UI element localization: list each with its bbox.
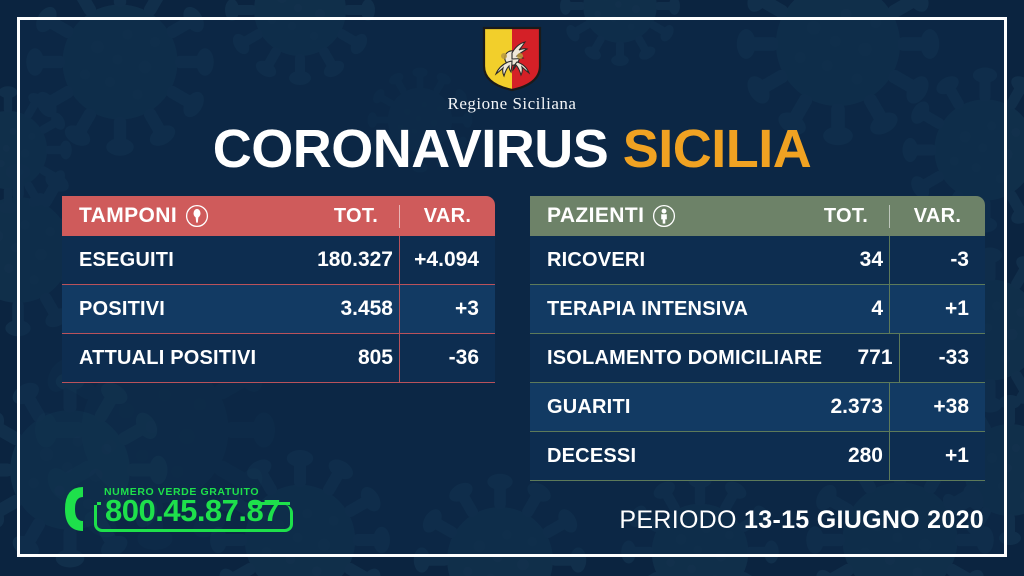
- row-variation: -3: [889, 236, 985, 285]
- swab-icon: [185, 204, 209, 228]
- row-variation: -33: [899, 334, 985, 383]
- table-row: ESEGUITI 180.327 +4.094: [62, 236, 495, 285]
- row-variation: +1: [889, 285, 985, 334]
- row-total: 180.327: [313, 248, 399, 272]
- row-variation: +4.094: [399, 236, 495, 285]
- table-pazienti-header: PAZIENTI TOT. VAR.: [530, 196, 985, 236]
- row-total: 3.458: [313, 297, 399, 321]
- row-label: DECESSI: [547, 445, 803, 468]
- table-tamponi: TAMPONI TOT. VAR. ESEGUITI 180.327 +4.09…: [62, 196, 495, 383]
- table-tamponi-col-var: VAR.: [399, 205, 495, 228]
- title-accent-word: SICILIA: [623, 119, 812, 179]
- hotline-block[interactable]: NUMERO VERDE GRATUITO 800.45.87.87: [58, 484, 293, 539]
- table-pazienti-col-var: VAR.: [889, 205, 985, 228]
- period-label: PERIODO: [619, 506, 736, 534]
- table-row: GUARITI 2.373 +38: [530, 383, 985, 432]
- row-label: POSITIVI: [79, 298, 313, 321]
- row-variation: +1: [889, 432, 985, 481]
- row-label: ESEGUITI: [79, 249, 313, 272]
- trinacria-crest-icon: [481, 26, 543, 97]
- phone-icon: [58, 484, 88, 539]
- row-total: 771: [822, 346, 898, 370]
- row-total: 4: [803, 297, 889, 321]
- period-value: 13-15 GIUGNO 2020: [744, 506, 984, 534]
- hotline-number[interactable]: 800.45.87.87: [105, 493, 280, 528]
- region-label: Regione Siciliana: [0, 94, 1024, 114]
- row-label: TERAPIA INTENSIVA: [547, 298, 803, 321]
- row-label: RICOVERI: [547, 249, 803, 272]
- row-total: 2.373: [803, 395, 889, 419]
- row-label: GUARITI: [547, 396, 803, 419]
- table-pazienti-col-tot: TOT.: [803, 205, 889, 228]
- period-block: PERIODO 13-15 GIUGNO 2020: [619, 506, 984, 535]
- row-total: 805: [313, 346, 399, 370]
- page-title: CORONAVIRUS SICILIA: [0, 122, 1024, 176]
- row-label: ATTUALI POSITIVI: [79, 347, 313, 370]
- row-variation: +38: [889, 383, 985, 432]
- title-main-word: CORONAVIRUS: [213, 119, 609, 179]
- hotline-outline: 800.45.87.87: [94, 505, 293, 532]
- table-row: TERAPIA INTENSIVA 4 +1: [530, 285, 985, 334]
- table-row: POSITIVI 3.458 +3: [62, 285, 495, 334]
- table-pazienti-title: PAZIENTI: [547, 204, 644, 228]
- table-tamponi-header: TAMPONI TOT. VAR.: [62, 196, 495, 236]
- person-icon: [652, 204, 676, 228]
- table-pazienti: PAZIENTI TOT. VAR. RICOVERI 34 -3 TERAPI…: [530, 196, 985, 481]
- row-total: 34: [803, 248, 889, 272]
- table-tamponi-col-tot: TOT.: [313, 205, 399, 228]
- row-variation: -36: [399, 334, 495, 383]
- table-row: DECESSI 280 +1: [530, 432, 985, 481]
- row-label: ISOLAMENTO DOMICILIARE: [547, 347, 822, 370]
- row-variation: +3: [399, 285, 495, 334]
- table-row: RICOVERI 34 -3: [530, 236, 985, 285]
- crest-container: [0, 26, 1024, 97]
- table-row: ATTUALI POSITIVI 805 -36: [62, 334, 495, 383]
- hotline-fields: NUMERO VERDE GRATUITO 800.45.87.87: [94, 495, 293, 528]
- row-total: 280: [803, 444, 889, 468]
- table-row: ISOLAMENTO DOMICILIARE 771 -33: [530, 334, 985, 383]
- table-tamponi-title: TAMPONI: [79, 204, 177, 228]
